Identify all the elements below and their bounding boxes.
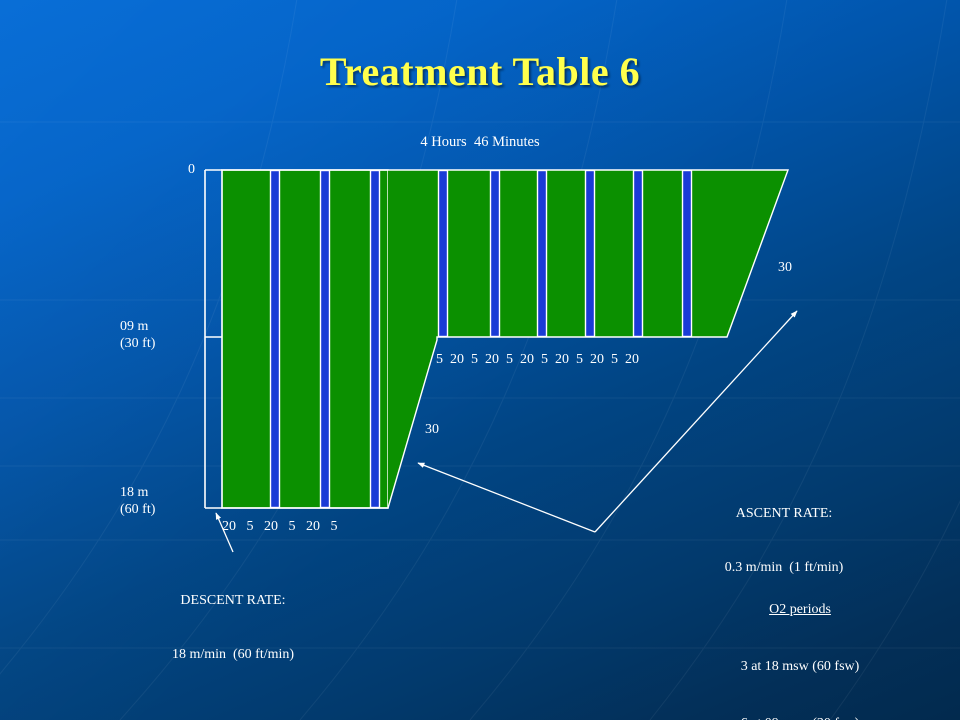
ascent-rate-leader-upper	[595, 311, 797, 532]
descent-rate-leader	[216, 513, 233, 552]
slide-canvas: Treatment Table 6 4 Hours 46 Minutes 0 0…	[0, 0, 960, 720]
annotation-arrows	[0, 0, 960, 720]
ascent-rate-leader-lower	[418, 463, 595, 532]
